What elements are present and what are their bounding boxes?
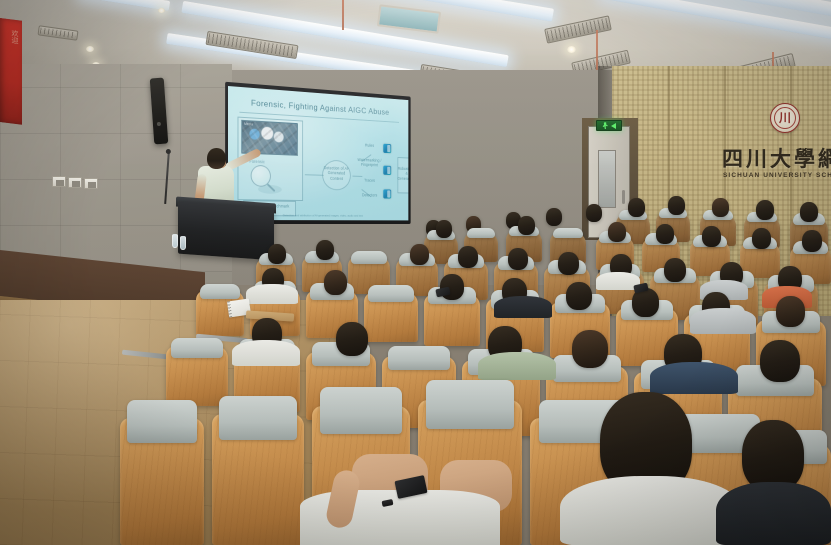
student-head-d4 [458,246,478,268]
seat-cushion [426,380,513,429]
seat-cushion [351,251,386,264]
seat-r4-c4[interactable] [364,292,418,342]
door-handle[interactable] [622,190,625,204]
water-bottle-2 [180,236,186,250]
slide-label-right-box: Robustness & Generalization [397,166,408,181]
student-head-c6 [752,228,771,249]
emblem-glyph: 川 [779,112,791,124]
student-head-e2 [324,270,347,295]
student-head-b5 [800,202,818,222]
slide-label-branch-4: Detectors [354,192,385,198]
student-shoulders-g4 [716,482,831,545]
seat-cushion [200,284,240,300]
student-head-b2 [668,196,685,215]
exit-arrow-icon [611,123,616,129]
light-switch-2[interactable] [68,177,82,188]
university-emblem: 川 [770,103,800,133]
seat-cushion [171,338,223,358]
downlight-4 [567,46,576,53]
light-switch-3[interactable] [84,178,98,189]
water-bottle-1 [172,234,178,248]
student-head-c1 [436,220,452,238]
student-shoulders-f2 [478,352,556,380]
student-head-e5 [566,282,592,310]
student-shoulders-g1 [560,476,740,545]
downlight-1 [86,46,94,52]
downlight-8 [158,8,165,13]
student-head-c2 [518,216,535,235]
student-head-d3 [410,244,429,265]
student-head-c4 [656,224,674,244]
running-man-icon [602,122,609,129]
slide-icon-2 [383,166,391,175]
slide-icon-3 [383,189,391,198]
light-switch-1[interactable] [52,176,66,187]
seat-r6-c2[interactable] [212,414,304,545]
student-shoulders-f1 [232,340,300,366]
student-head-d6 [558,252,579,275]
student-head-f6 [760,340,800,382]
emblem-inner-ring: 川 [774,107,796,129]
switch-rocker [88,182,96,188]
student-head-d1 [268,244,286,264]
student-head-c7 [802,230,822,252]
student-head-b4 [756,200,774,220]
seat-cushion [219,396,296,441]
student-head-e8 [776,296,805,327]
presenter-head [207,148,226,169]
lecture-hall-photo: 欢迎 川 四川大學網络 SICHUAN UNIVERSITY SCHOOL Fo… [0,0,831,545]
exit-sign [596,120,622,131]
student-head-b1 [628,198,645,217]
student-head-d2 [316,240,334,260]
banner-text: 欢迎 [3,28,19,44]
student-head-c5 [702,226,721,247]
seat-cushion [127,400,198,443]
university-name-english: SICHUAN UNIVERSITY SCHOOL [723,172,831,179]
student-shoulders-e2 [494,296,552,318]
student-head-d5 [508,248,528,270]
student-shoulders-f3 [650,362,738,394]
student-shoulders-e1 [246,284,298,304]
seat-r4-c5[interactable] [424,294,480,346]
seat-r5-c1[interactable] [166,346,228,406]
red-banner: 欢迎 [0,18,22,125]
student-head-b6 [586,204,602,222]
slide-label-center-node: Detection of AI-Generated Content [322,165,351,181]
student-head-d8 [664,258,686,282]
seat-r6-c1[interactable] [120,418,204,545]
student-shoulders-e3 [690,308,756,334]
slide-icon-1 [383,144,391,153]
student-head-b7 [546,208,562,226]
door-glass-panel [598,150,616,208]
switch-rocker [56,180,64,186]
student-head-b3 [712,198,729,217]
switch-rocker [72,181,80,187]
pipe-hanger-2 [342,0,344,30]
slide-label-branch-3: Traces [354,178,385,184]
student-head-c3 [608,222,626,242]
seat-cushion [467,228,496,238]
student-head-f4 [572,330,608,368]
seat-cushion [553,228,583,239]
podium [178,202,274,261]
slide-label-branch-2: Watermarking / Fingerprint [352,157,386,168]
seat-cushion [320,387,402,434]
seat-cushion [368,285,413,302]
seat-cushion [388,346,450,370]
student-head-f2 [336,322,368,356]
university-name-chinese: 四川大學網络 [722,148,831,170]
